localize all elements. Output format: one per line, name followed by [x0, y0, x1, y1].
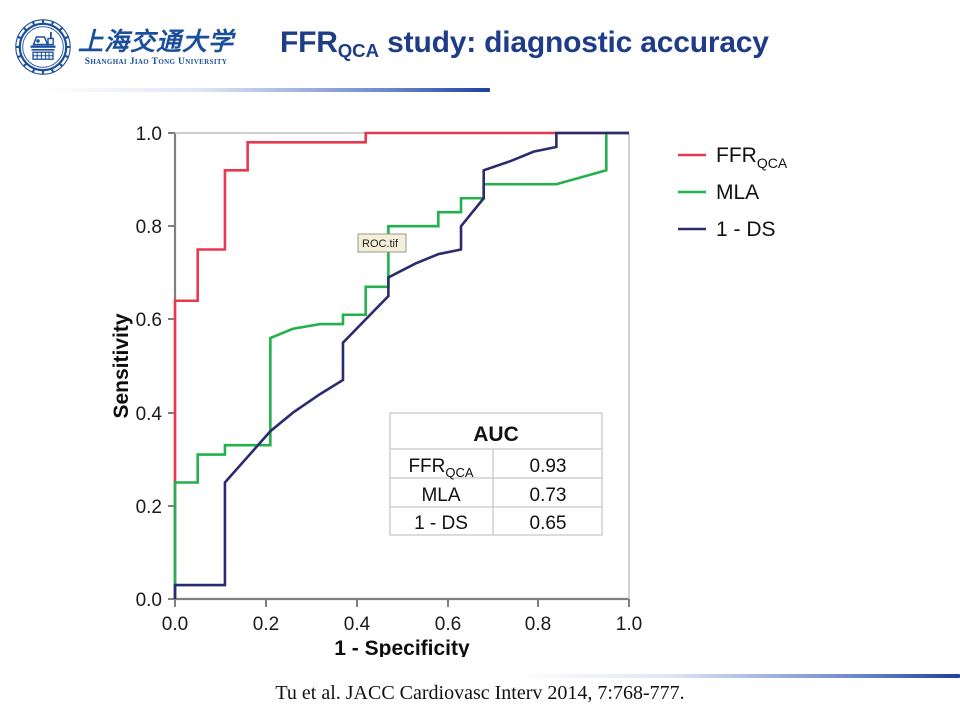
y-tick-label: 0.2 [136, 497, 162, 518]
x-tick-label: 0.8 [525, 614, 551, 635]
x-tick-label: 0.0 [162, 614, 188, 635]
auc-row-label-2: 1 - DS [414, 513, 468, 534]
x-axis-tick-labels: 0.0 0.2 0.4 0.6 0.8 1.0 [162, 614, 642, 635]
y-axis-label: Sensitivity [110, 313, 133, 418]
auc-row-value-0: 0.93 [530, 456, 567, 477]
auc-table-header: AUC [473, 423, 519, 446]
roc-tif-tooltip: ROC.tif [358, 234, 406, 252]
y-tick-label: 0.0 [136, 590, 162, 611]
y-tick-label: 0.4 [136, 404, 163, 425]
title-subscript: QCA [338, 40, 379, 61]
auc-table: AUC FFRQCA 0.93 MLA 0.73 1 - DS 0.65 [390, 413, 602, 535]
x-tick-label: 0.4 [344, 614, 371, 635]
legend-label-1-ds: 1 - DS [716, 218, 776, 241]
y-axis-tick-labels: 1.0 0.8 0.6 0.4 0.2 0.0 [136, 124, 163, 611]
roc-chart-figure: 1.0 0.8 0.6 0.4 0.2 0.0 0.0 0.2 0.4 0.6 … [100, 112, 890, 657]
x-tick-label: 0.6 [435, 614, 461, 635]
auc-row-value-2: 0.65 [530, 513, 567, 534]
legend-label-ffrqca: FFRQCA [716, 144, 788, 171]
citation-text: Tu et al. JACC Cardiovasc Interv 2014, 7… [0, 682, 960, 705]
header-divider [40, 88, 490, 92]
logo-chinese-name: 上海交通大学 [78, 28, 234, 55]
logo-english-name: Shanghai Jiao Tong University [78, 57, 234, 67]
title-main: FFR [280, 26, 338, 59]
y-tick-label: 0.6 [136, 310, 162, 331]
x-tick-label: 0.2 [253, 614, 279, 635]
footer-divider [510, 674, 960, 678]
y-tick-label: 1.0 [136, 124, 162, 145]
x-tick-label: 1.0 [616, 614, 642, 635]
legend-label-mla: MLA [716, 181, 759, 204]
chart-legend: FFRQCA MLA 1 - DS [678, 144, 788, 241]
page-title: FFRQCA study: diagnostic accuracy [280, 26, 940, 59]
sjtu-gear-emblem-icon [14, 18, 72, 76]
auc-row-value-1: 0.73 [530, 485, 567, 506]
roc-chart-svg: 1.0 0.8 0.6 0.4 0.2 0.0 0.0 0.2 0.4 0.6 … [100, 112, 890, 657]
y-tick-label: 0.8 [136, 217, 162, 238]
x-axis-ticks [175, 599, 629, 607]
x-axis-label: 1 - Specificity [334, 637, 470, 657]
auc-row-label-1: MLA [421, 485, 460, 506]
tooltip-label: ROC.tif [362, 238, 399, 250]
logo-wordmark: 上海交通大学 Shanghai Jiao Tong University [78, 28, 234, 67]
university-logo: 上海交通大学 Shanghai Jiao Tong University [14, 16, 264, 78]
title-rest: study: diagnostic accuracy [379, 26, 769, 59]
slide-header: 上海交通大学 Shanghai Jiao Tong University FFR… [0, 0, 960, 96]
